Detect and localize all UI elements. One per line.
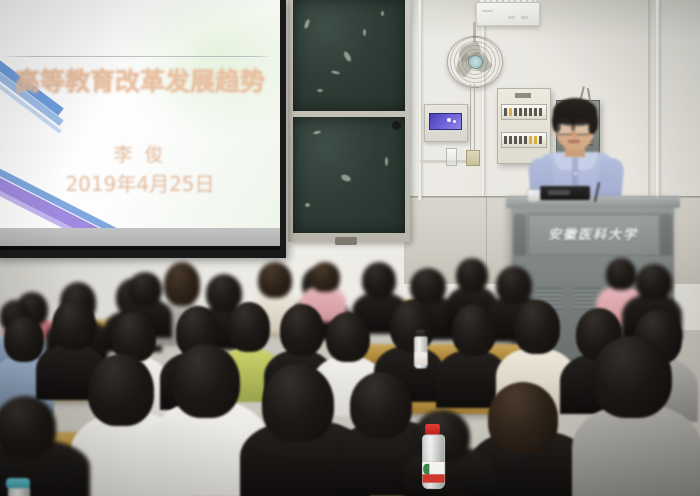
lecture-hall-photo: 高等教育改革发展趋势 李 俊 2019年4月25日 — [0, 0, 700, 496]
bottle-label-accent — [423, 464, 429, 475]
audience-near-rows — [0, 0, 700, 496]
thermos-body — [8, 488, 30, 496]
bottle-cap — [425, 424, 440, 435]
